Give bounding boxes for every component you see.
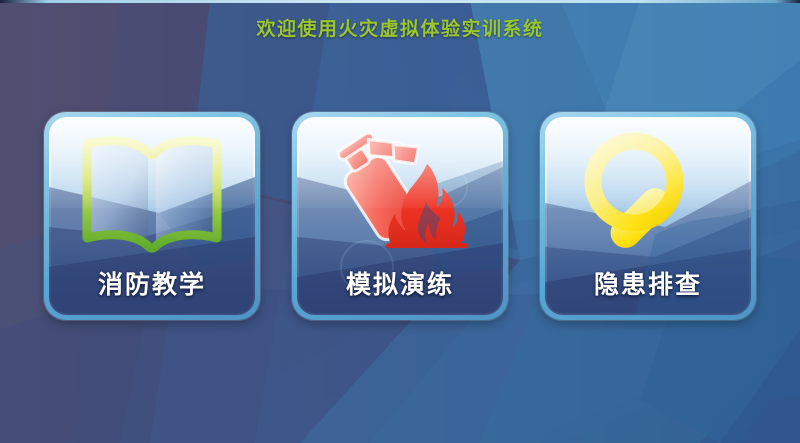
fire-extinguisher-flame-icon — [320, 128, 480, 264]
card-label-fire-safety-teaching: 消防教学 — [49, 265, 255, 301]
magnifier-icon — [575, 130, 721, 262]
icon-zone — [545, 121, 751, 271]
open-book-icon — [79, 134, 225, 258]
icon-zone — [297, 121, 503, 271]
card-label-simulation-drill: 模拟演练 — [297, 265, 503, 301]
card-fire-safety-teaching[interactable]: 消防教学 — [44, 112, 260, 320]
window-top-edge — [0, 0, 800, 3]
card-inner: 隐患排查 — [545, 117, 751, 315]
icon-zone — [49, 121, 255, 271]
menu-card-row: 消防教学 — [44, 112, 756, 320]
card-inner: 消防教学 — [49, 117, 255, 315]
card-label-hazard-inspection: 隐患排查 — [545, 265, 751, 301]
card-inner: 模拟演练 — [297, 117, 503, 315]
card-simulation-drill[interactable]: 模拟演练 — [292, 112, 508, 320]
application-window: 欢迎使用火灾虚拟体验实训系统 — [0, 0, 800, 443]
card-hazard-inspection[interactable]: 隐患排查 — [540, 112, 756, 320]
page-title: 欢迎使用火灾虚拟体验实训系统 — [0, 14, 800, 41]
